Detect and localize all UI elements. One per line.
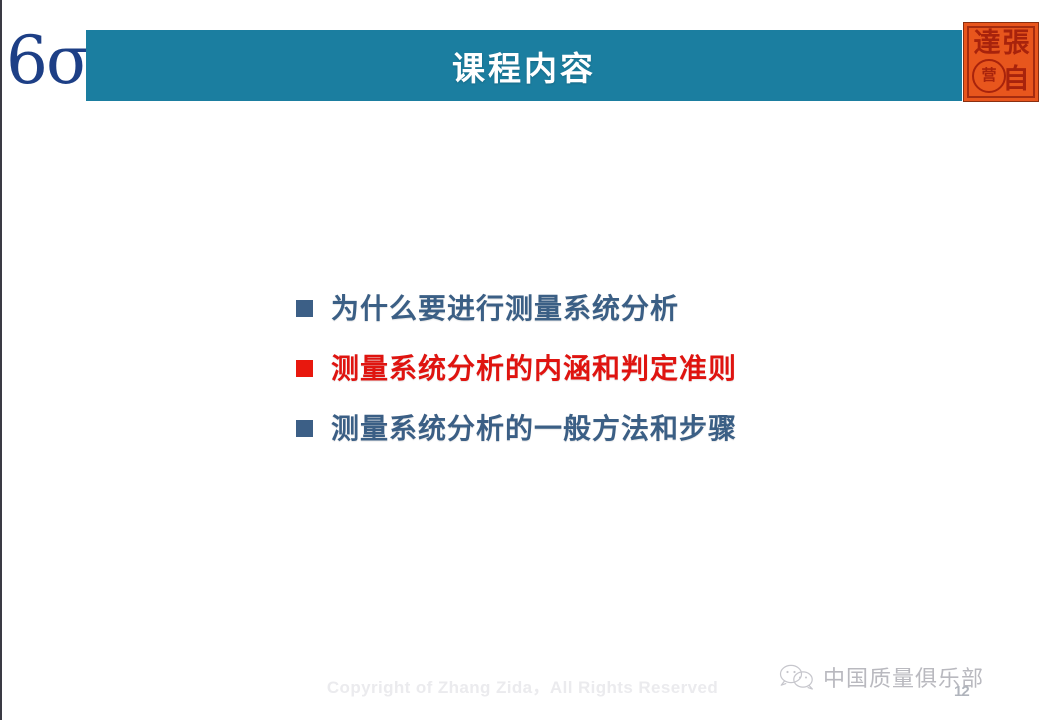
list-item-label: 测量系统分析的一般方法和步骤	[331, 407, 737, 447]
slide: 6σ 课程内容 達 張 自 营 为什么要进行测量系统分析 测量系统分析的内涵和判…	[0, 0, 1041, 720]
seal-char-top-right: 張	[1000, 29, 1032, 59]
page-number: 12	[954, 683, 969, 700]
square-bullet-icon	[296, 360, 313, 377]
list-item-label: 测量系统分析的内涵和判定准则	[331, 347, 737, 387]
list-item[interactable]: 为什么要进行测量系统分析	[296, 277, 936, 337]
page-title: 课程内容	[86, 30, 962, 101]
six-sigma-logo: 6σ	[6, 18, 98, 104]
seal-logo: 達 張 自 营	[963, 22, 1039, 102]
list-item[interactable]: 测量系统分析的一般方法和步骤	[296, 397, 936, 457]
seal-char-top-left: 達	[971, 29, 1003, 59]
watermark: 中国质量俱乐部	[777, 661, 984, 693]
wechat-icon	[777, 662, 817, 692]
seal-inner-border: 達 張 自 营	[967, 26, 1035, 98]
seal-circle-stamp-icon: 营	[972, 59, 1006, 93]
agenda-list: 为什么要进行测量系统分析 测量系统分析的内涵和判定准则 测量系统分析的一般方法和…	[296, 277, 936, 457]
square-bullet-icon	[296, 420, 313, 437]
list-item[interactable]: 测量系统分析的内涵和判定准则	[296, 337, 936, 397]
square-bullet-icon	[296, 300, 313, 317]
list-item-label: 为什么要进行测量系统分析	[331, 287, 679, 327]
